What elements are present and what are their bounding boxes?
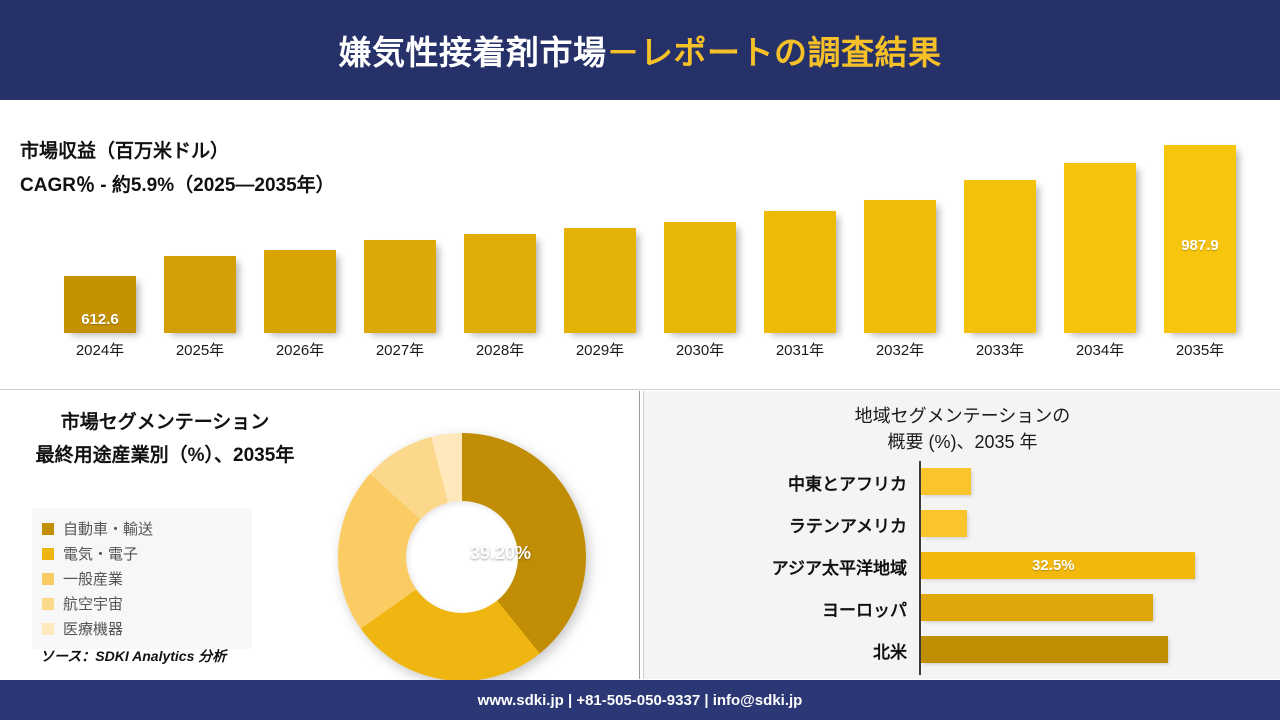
legend-item[interactable]: 航空宇宙: [42, 591, 242, 616]
region-panel: 地域セグメンテーションの 概要 (%)、2035 年 中東とアフリカラテンアメリ…: [643, 391, 1280, 679]
region-name-label: 北米: [644, 638, 907, 663]
donut-chart: 39.20%: [338, 433, 586, 681]
revenue-bar-column: 612.62024年: [64, 100, 136, 390]
region-bar-row: ヨーロッパ: [644, 587, 1280, 629]
revenue-bar-value-label: 612.6: [64, 311, 136, 328]
revenue-bar: [264, 250, 336, 333]
revenue-bar-year-label: 2030年: [658, 339, 742, 360]
legend-item[interactable]: 電気・電子: [42, 541, 242, 566]
revenue-bar-year-label: 2031年: [758, 339, 842, 360]
revenue-bar-year-label: 2032年: [858, 339, 942, 360]
region-bar: [921, 510, 967, 537]
region-bar: [921, 636, 1168, 663]
revenue-bar-year-label: 2034年: [1058, 339, 1142, 360]
revenue-bar-column: 2027年: [364, 100, 436, 390]
legend-swatch-icon: [42, 523, 54, 535]
revenue-bar: [564, 228, 636, 333]
footer-contact: www.sdki.jp | +81-505-050-9337 | info@sd…: [478, 692, 803, 709]
region-bar: [921, 594, 1153, 621]
donut-slice-label: 39.20%: [470, 543, 531, 564]
segmentation-title-line-1: 市場セグメンテーション: [0, 406, 330, 439]
region-title: 地域セグメンテーションの 概要 (%)、2035 年: [644, 403, 1280, 455]
region-title-line-2: 概要 (%)、2035 年: [644, 429, 1280, 455]
legend-item-label: 医療機器: [63, 618, 123, 639]
region-bar-row: 北米: [644, 629, 1280, 671]
segmentation-title: 市場セグメンテーション 最終用途産業別（%）、2035年: [0, 406, 330, 472]
revenue-bar: [864, 200, 936, 333]
revenue-bar: [464, 234, 536, 333]
revenue-bar: [164, 256, 236, 333]
legend-item-label: 自動車・輸送: [63, 518, 153, 539]
region-bar: [921, 468, 971, 495]
infographic-page: 嫌気性接着剤市場－レポートの調査結果 市場収益（百万米ドル） CAGR％ - 約…: [0, 0, 1280, 720]
revenue-bar-column: 2032年: [864, 100, 936, 390]
revenue-bar-year-label: 2024年: [58, 339, 142, 360]
region-bar-value-label: 32.5%: [1032, 557, 1075, 574]
revenue-bar-column: 2026年: [264, 100, 336, 390]
revenue-bar-column: 2030年: [664, 100, 736, 390]
revenue-bar-year-label: 2026年: [258, 339, 342, 360]
legend-item[interactable]: 自動車・輸送: [42, 516, 242, 541]
page-title-accent: －レポートの調査結果: [607, 34, 942, 71]
revenue-bar-column: 2031年: [764, 100, 836, 390]
page-footer: www.sdki.jp | +81-505-050-9337 | info@sd…: [0, 680, 1280, 720]
revenue-bar-column: 2033年: [964, 100, 1036, 390]
revenue-bar: [1064, 163, 1136, 333]
revenue-bar-year-label: 2028年: [458, 339, 542, 360]
revenue-bar-year-label: 2035年: [1158, 339, 1242, 360]
revenue-bar: [664, 222, 736, 333]
region-name-label: ラテンアメリカ: [644, 512, 907, 537]
segmentation-title-line-2: 最終用途産業別（%）、2035年: [0, 439, 330, 472]
region-title-line-1: 地域セグメンテーションの: [644, 403, 1280, 429]
legend-item[interactable]: 医療機器: [42, 616, 242, 641]
revenue-chart-section: 市場収益（百万米ドル） CAGR％ - 約5.9%（2025―2035年） 61…: [0, 100, 1280, 390]
region-name-label: アジア太平洋地域: [644, 554, 907, 579]
page-header: 嫌気性接着剤市場－レポートの調査結果: [0, 0, 1280, 100]
legend-swatch-icon: [42, 598, 54, 610]
revenue-bars-area: 612.62024年2025年2026年2027年2028年2029年2030年…: [40, 100, 1250, 390]
page-title-main: 嫌気性接着剤市場: [339, 34, 607, 71]
revenue-bar-year-label: 2033年: [958, 339, 1042, 360]
page-title: 嫌気性接着剤市場－レポートの調査結果: [339, 26, 942, 74]
legend-item-label: 電気・電子: [63, 543, 138, 564]
region-bar-row: アジア太平洋地域32.5%: [644, 545, 1280, 587]
legend-swatch-icon: [42, 573, 54, 585]
legend-item[interactable]: 一般産業: [42, 566, 242, 591]
revenue-bar: [364, 240, 436, 333]
revenue-bar-column: 2029年: [564, 100, 636, 390]
source-note: ソース：SDKI Analytics 分析: [40, 646, 226, 666]
revenue-bar-year-label: 2027年: [358, 339, 442, 360]
legend-item-label: 航空宇宙: [63, 593, 123, 614]
revenue-bar: [764, 211, 836, 333]
legend-item-label: 一般産業: [63, 568, 123, 589]
revenue-bar: [964, 180, 1036, 333]
legend-swatch-icon: [42, 548, 54, 560]
revenue-bar-column: 987.92035年: [1164, 100, 1236, 390]
donut-legend: 自動車・輸送電気・電子一般産業航空宇宙医療機器: [32, 508, 252, 649]
legend-swatch-icon: [42, 623, 54, 635]
region-name-label: 中東とアフリカ: [644, 470, 907, 495]
region-bar-row: ラテンアメリカ: [644, 503, 1280, 545]
region-bar-row: 中東とアフリカ: [644, 461, 1280, 503]
revenue-bar-column: 2028年: [464, 100, 536, 390]
revenue-bar-year-label: 2025年: [158, 339, 242, 360]
segmentation-panel: 市場セグメンテーション 最終用途産業別（%）、2035年 自動車・輸送電気・電子…: [0, 391, 640, 679]
region-name-label: ヨーロッパ: [644, 596, 907, 621]
revenue-bar-year-label: 2029年: [558, 339, 642, 360]
region-bars-area: 中東とアフリカラテンアメリカアジア太平洋地域32.5%ヨーロッパ北米: [644, 461, 1280, 675]
revenue-bar-value-label: 987.9: [1164, 237, 1236, 254]
revenue-bar-column: 2034年: [1064, 100, 1136, 390]
revenue-bar-column: 2025年: [164, 100, 236, 390]
